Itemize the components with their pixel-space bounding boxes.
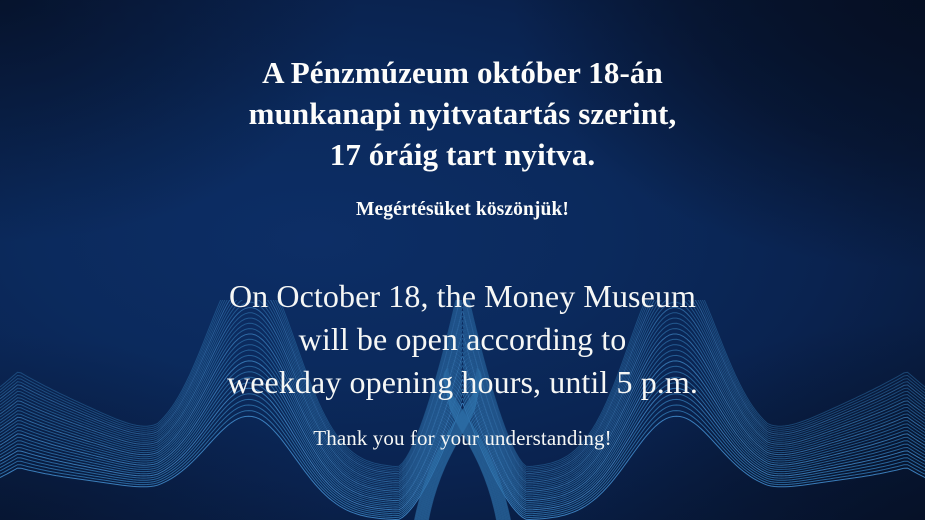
- hungarian-closing-line: Megértésüket köszönjük!: [356, 197, 569, 223]
- announcement-banner: A Pénzmúzeum október 18-án munkanapi nyi…: [0, 0, 925, 520]
- hungarian-heading-line-2: munkanapi nyitvatartás szerint,: [249, 93, 677, 134]
- english-body: On October 18, the Money Museum will be …: [227, 275, 698, 404]
- english-body-line-2: will be open according to: [227, 318, 698, 361]
- announcement-content: A Pénzmúzeum október 18-án munkanapi nyi…: [0, 0, 925, 520]
- hungarian-heading-line-3: 17 óráig tart nyitva.: [249, 134, 677, 175]
- english-body-line-1: On October 18, the Money Museum: [227, 275, 698, 318]
- hungarian-heading: A Pénzmúzeum október 18-án munkanapi nyi…: [249, 52, 677, 175]
- english-body-line-3: weekday opening hours, until 5 p.m.: [227, 361, 698, 404]
- english-closing-line: Thank you for your understanding!: [313, 424, 611, 452]
- hungarian-heading-line-1: A Pénzmúzeum október 18-án: [249, 52, 677, 93]
